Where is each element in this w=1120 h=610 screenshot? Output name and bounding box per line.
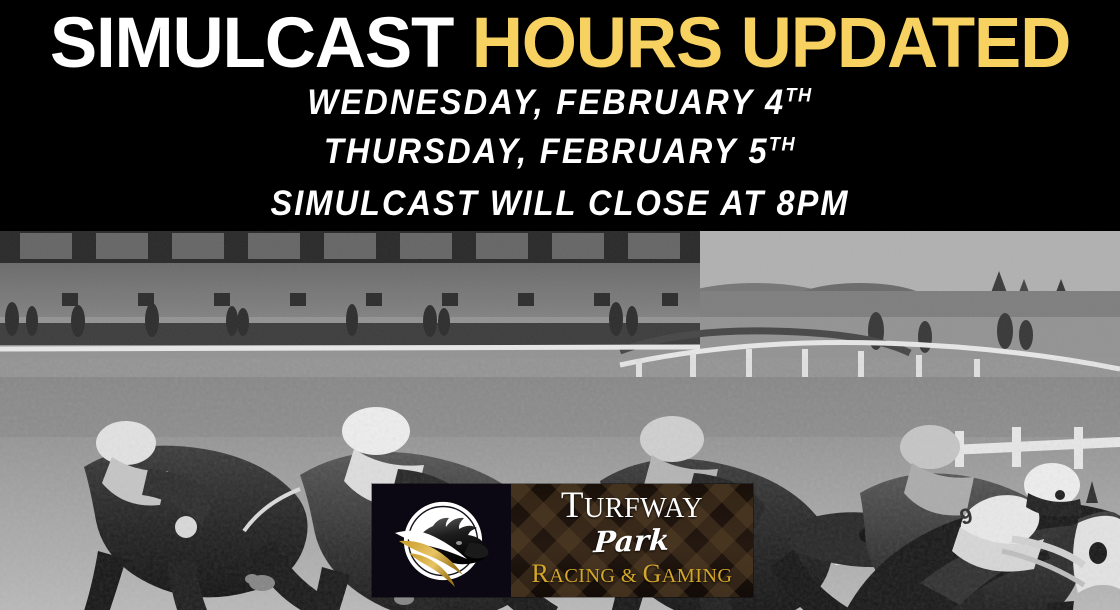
logo-wordmark-rest: URFWAY	[584, 493, 703, 524]
date-line-thursday-ordinal: TH	[769, 133, 796, 155]
logo-tagline: RACING & GAMING	[511, 560, 753, 590]
logo-emblem-panel	[372, 484, 511, 597]
logo-tagline-aming: AMING	[662, 565, 733, 587]
logo-wordmark: TURFWAY	[511, 486, 753, 529]
date-line-wednesday-ordinal: TH	[785, 84, 812, 106]
headline-white-part: SIMULCAST	[50, 4, 453, 83]
closing-time-line: SIMULCAST WILL CLOSE AT 8PM	[39, 184, 1081, 224]
logo-park-script: Park	[584, 524, 680, 557]
logo-park-row: Park	[511, 524, 753, 557]
date-line-thursday-text: THURSDAY, FEBRUARY 5	[324, 132, 769, 171]
date-line-thursday: THURSDAY, FEBRUARY 5TH	[39, 132, 1081, 172]
logo-tagline-amp: &	[615, 565, 642, 587]
logo-tagline-g: G	[643, 559, 662, 588]
horse-head-icon	[391, 493, 493, 588]
logo-text-panel: TURFWAY Park RACING & GAMING	[511, 484, 753, 597]
closing-time-text: SIMULCAST WILL CLOSE AT 8PM	[270, 184, 849, 223]
announcement-banner: SIMULCAST HOURS UPDATED WEDNESDAY, FEBRU…	[0, 0, 1120, 231]
headline: SIMULCAST HOURS UPDATED	[0, 7, 1120, 81]
headline-gold-part: HOURS UPDATED	[472, 4, 1070, 83]
date-line-wednesday-text: WEDNESDAY, FEBRUARY 4	[307, 83, 785, 122]
date-line-wednesday: WEDNESDAY, FEBRUARY 4TH	[39, 83, 1081, 123]
logo-wordmark-lead: T	[561, 485, 584, 526]
turfway-park-logo: TURFWAY Park RACING & GAMING	[372, 484, 753, 597]
logo-tagline-r: R	[532, 559, 550, 588]
promo-graphic: 9 SIMULCAST HOURS UPDATED WEDNESDAY, FEB…	[0, 0, 1120, 610]
logo-tagline-acing: ACING	[549, 565, 615, 587]
